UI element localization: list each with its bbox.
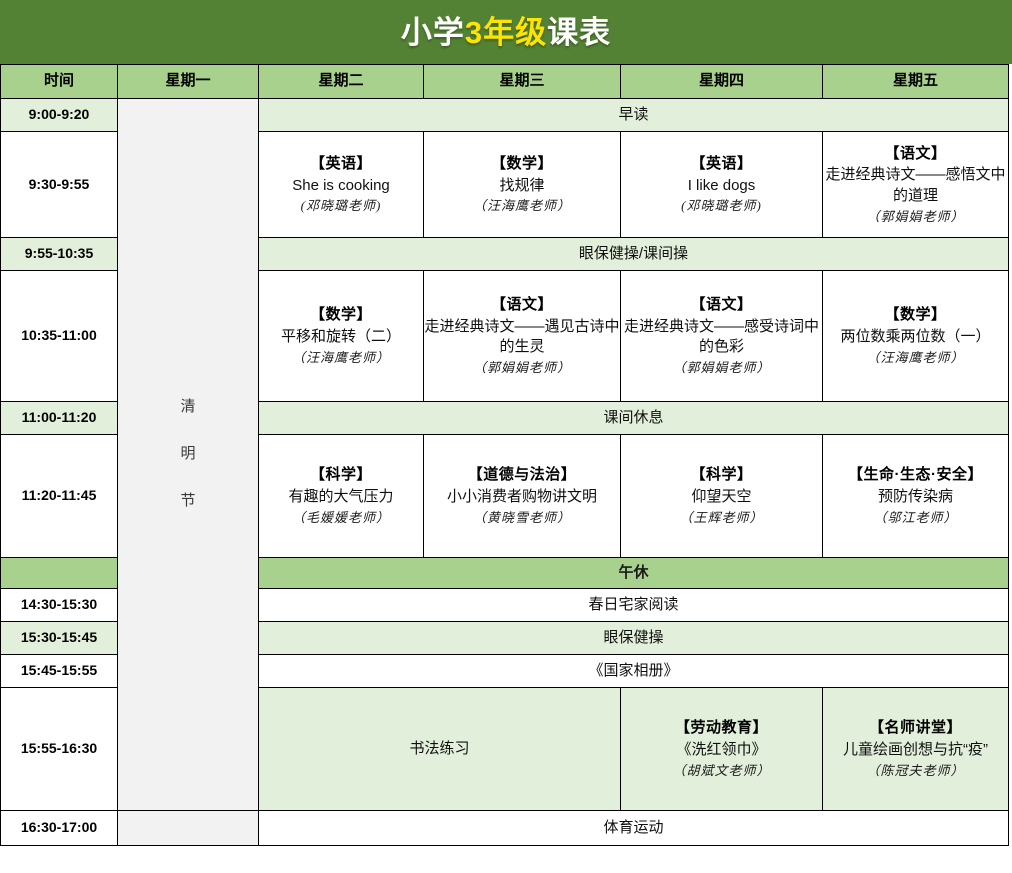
class-topic: 走进经典诗文——遇见古诗中的生灵 [424,317,620,358]
schedule-page: 小学3年级课表 时间 星期一 星期二 星期三 星期四 星期五 9:00-9:20… [0,0,1012,873]
class-subject: 【语文】 [823,144,1008,165]
class-subject: 【道德与法治】 [424,465,620,486]
activity-cell: 眼保健操 [259,622,1009,655]
class-topic: 预防传染病 [823,487,1008,508]
class-subject: 【英语】 [621,154,822,175]
time-label: 15:45-15:55 [1,655,118,688]
class-teacher: （郭娟娟老师） [621,359,822,377]
activity-label: 书法练习 [409,740,469,757]
class-subject: 【英语】 [259,154,423,175]
title-banner: 小学3年级课表 [0,0,1012,64]
class-topic: 小小消费者购物讲文明 [424,487,620,508]
class-teacher: （汪海鹰老师） [823,349,1008,367]
class-topic: 儿童绘画创想与抗“疫” [823,740,1008,761]
title-part-grade: 3年级 [465,15,547,50]
page-title: 小学3年级课表 [401,17,611,48]
schedule-table: 时间 星期一 星期二 星期三 星期四 星期五 9:00-9:20 清 明 节 [0,64,1009,846]
holiday-char: 清 [180,397,195,418]
class-cell: 【语文】 走进经典诗文——感受诗词中的色彩 （郭娟娟老师） [621,271,823,402]
class-cell: 【英语】 I like dogs (邓晓璐老师) [621,132,823,238]
col-header-friday: 星期五 [823,65,1009,99]
class-teacher: （毛媛媛老师） [259,509,423,527]
time-label: 15:55-16:30 [1,688,118,811]
class-teacher: (邓晓璐老师) [621,197,822,215]
class-subject: 【数学】 [424,154,620,175]
time-label: 16:30-17:00 [1,811,118,846]
time-label: 11:20-11:45 [1,435,118,558]
class-subject: 【科学】 [259,465,423,486]
activity-cell: 《国家相册》 [259,655,1009,688]
activity-label: 早读 [618,106,648,123]
holiday-vertical-text: 清 明 节 [118,397,258,511]
activity-cell: 体育运动 [259,811,1009,846]
class-teacher: （汪海鹰老师） [424,197,620,215]
class-subject: 【名师讲堂】 [823,718,1008,739]
title-part-suffix: 课表 [547,15,611,50]
class-teacher: （郭娟娟老师） [823,208,1008,226]
time-label: 9:55-10:35 [1,238,118,271]
col-header-time: 时间 [1,65,118,99]
time-label [1,558,118,589]
table-header-row: 时间 星期一 星期二 星期三 星期四 星期五 [1,65,1009,99]
class-topic: I like dogs [621,176,822,197]
class-teacher: （郭娟娟老师） [424,359,620,377]
class-subject: 【语文】 [424,295,620,316]
time-label: 11:00-11:20 [1,402,118,435]
holiday-char: 明 [180,444,195,465]
activity-cell: 春日宅家阅读 [259,589,1009,622]
class-subject: 【生命·生态·安全】 [823,465,1008,486]
class-topic: 仰望天空 [621,487,822,508]
class-topic: 找规律 [424,176,620,197]
time-label: 15:30-15:45 [1,622,118,655]
class-cell: 【数学】 两位数乘两位数（一） （汪海鹰老师） [823,271,1009,402]
class-teacher: （汪海鹰老师） [259,349,423,367]
class-topic: 走进经典诗文——感受诗词中的色彩 [621,317,822,358]
activity-label: 眼保健操 [603,629,663,646]
time-label: 10:35-11:00 [1,271,118,402]
col-header-tuesday: 星期二 [259,65,424,99]
holiday-char: 节 [180,491,195,512]
class-topic: 平移和旋转（二） [259,327,423,348]
time-label: 9:00-9:20 [1,99,118,132]
activity-label: 体育运动 [603,819,663,836]
holiday-monday-cell: 清 明 节 [118,99,259,811]
col-header-monday: 星期一 [118,65,259,99]
class-topic: She is cooking [259,176,423,197]
class-cell: 【道德与法治】 小小消费者购物讲文明 （黄晓雪老师） [424,435,621,558]
class-topic: 两位数乘两位数（一） [823,327,1008,348]
class-teacher: （胡斌文老师） [621,762,822,780]
class-cell: 【语文】 走进经典诗文——遇见古诗中的生灵 （郭娟娟老师） [424,271,621,402]
title-part-prefix: 小学 [401,15,465,50]
class-teacher: （黄晓雪老师） [424,509,620,527]
activity-label: 《国家相册》 [588,662,678,679]
activity-cell: 早读 [259,99,1009,132]
class-cell: 【语文】 走进经典诗文——感悟文中的道理 （郭娟娟老师） [823,132,1009,238]
class-cell: 【劳动教育】 《洗红领巾》 （胡斌文老师） [621,688,823,811]
class-teacher: （王辉老师） [621,509,822,527]
class-cell: 【科学】 仰望天空 （王辉老师） [621,435,823,558]
time-label: 14:30-15:30 [1,589,118,622]
class-teacher: （陈冠夫老师） [823,762,1008,780]
class-topic: 《洗红领巾》 [621,740,822,761]
table-row: 16:30-17:00 体育运动 [1,811,1009,846]
col-header-wednesday: 星期三 [424,65,621,99]
activity-cell: 课间休息 [259,402,1009,435]
activity-label: 课间休息 [603,409,663,426]
class-cell: 【英语】 She is cooking (邓晓璐老师) [259,132,424,238]
activity-cell: 书法练习 [259,688,621,811]
class-cell: 【数学】 平移和旋转（二） （汪海鹰老师） [259,271,424,402]
activity-cell: 午休 [259,558,1009,589]
class-topic: 有趣的大气压力 [259,487,423,508]
class-subject: 【科学】 [621,465,822,486]
class-teacher: （邬江老师） [823,509,1008,527]
class-subject: 【数学】 [823,305,1008,326]
col-header-thursday: 星期四 [621,65,823,99]
activity-label: 春日宅家阅读 [588,596,678,613]
class-teacher: (邓晓璐老师) [259,197,423,215]
holiday-monday-cell-footer [118,811,259,846]
class-cell: 【生命·生态·安全】 预防传染病 （邬江老师） [823,435,1009,558]
class-cell: 【数学】 找规律 （汪海鹰老师） [424,132,621,238]
time-label: 9:30-9:55 [1,132,118,238]
class-subject: 【劳动教育】 [621,718,822,739]
activity-cell: 眼保健操/课间操 [259,238,1009,271]
class-cell: 【名师讲堂】 儿童绘画创想与抗“疫” （陈冠夫老师） [823,688,1009,811]
class-topic: 走进经典诗文——感悟文中的道理 [823,165,1008,206]
class-subject: 【数学】 [259,305,423,326]
class-cell: 【科学】 有趣的大气压力 （毛媛媛老师） [259,435,424,558]
table-row: 9:00-9:20 清 明 节 早读 [1,99,1009,132]
activity-label: 眼保健操/课间操 [579,245,688,262]
class-subject: 【语文】 [621,295,822,316]
